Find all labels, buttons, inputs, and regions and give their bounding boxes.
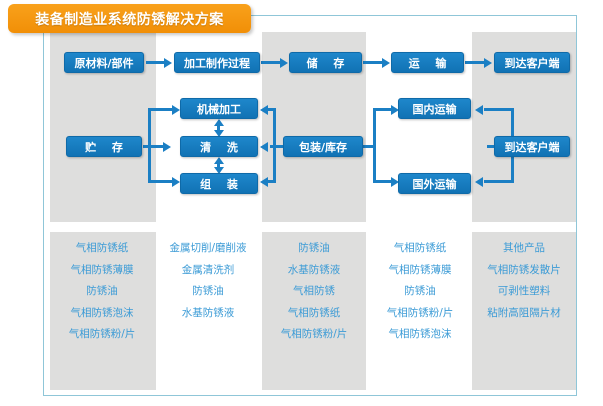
diagram-root: 原材料/部件 加工制作过程 储 存 运 输 到达客户端 贮 存 机械加工 清 洗… xyxy=(0,0,603,406)
arrowhead-customer-to-domestic xyxy=(475,105,483,115)
connector-depot-out xyxy=(143,145,165,148)
connector-packaging-to-domestic xyxy=(373,108,393,111)
product-column-4: 气相防锈纸 气相防锈薄膜 防锈油 气相防锈粉/片 气相防锈泡沫 xyxy=(368,238,472,346)
product-item: 气相防锈纸 xyxy=(288,303,341,325)
product-item: 防锈油 xyxy=(404,281,436,303)
connector-packaging-left-spine xyxy=(273,108,276,183)
connector-raw-to-process xyxy=(146,61,166,64)
flow-box-processing[interactable]: 加工制作过程 xyxy=(174,52,260,73)
connector-packaging-right-spine xyxy=(373,108,376,183)
flow-box-raw-material[interactable]: 原材料/部件 xyxy=(64,52,144,73)
arrowhead-packaging-to-machining xyxy=(260,105,268,115)
connector-depot-to-machining xyxy=(148,108,174,111)
product-item: 粘附高阻隔片材 xyxy=(487,303,561,325)
connector-customer-to-domestic xyxy=(484,108,514,111)
flow-box-overseas-transport[interactable]: 国外运输 xyxy=(398,173,471,194)
flow-box-domestic-transport[interactable]: 国内运输 xyxy=(398,98,471,119)
product-item: 气相防锈 xyxy=(293,281,335,303)
flow-box-assembly[interactable]: 组 装 xyxy=(180,173,258,194)
product-item: 其他产品 xyxy=(503,238,545,260)
flow-box-storage[interactable]: 储 存 xyxy=(289,52,362,73)
product-item: 防锈油 xyxy=(298,238,330,260)
product-item: 气相防锈薄膜 xyxy=(71,260,134,282)
arrowhead-process-to-storage xyxy=(280,58,288,68)
connector-depot-to-assembly xyxy=(148,180,174,183)
product-column-3: 防锈油 水基防锈液 气相防锈 气相防锈纸 气相防锈粉/片 xyxy=(262,238,366,346)
product-column-5: 其他产品 气相防锈发散片 可剥性塑料 粘附高阻隔片材 xyxy=(472,238,576,324)
product-item: 可剥性塑料 xyxy=(498,281,551,303)
arrowhead-assembly-to-cleaning xyxy=(214,157,224,164)
flow-box-machining[interactable]: 机械加工 xyxy=(180,98,258,119)
product-item: 金属清洗剂 xyxy=(182,260,235,282)
arrowhead-customer-to-overseas xyxy=(475,177,483,187)
connector-packaging-to-machining xyxy=(268,108,276,111)
product-item: 气相防锈泡沫 xyxy=(71,303,134,325)
arrowhead-cleaning-to-machining xyxy=(214,119,224,126)
flow-box-packaging-inventory[interactable]: 包装/库存 xyxy=(283,136,363,157)
product-item: 水基防锈液 xyxy=(182,303,235,325)
arrowhead-transport-to-customer xyxy=(484,58,492,68)
flow-box-transport[interactable]: 运 输 xyxy=(391,52,464,73)
title-tab: 装备制造业系统防锈解决方案 xyxy=(8,4,251,33)
flow-box-depot[interactable]: 贮 存 xyxy=(66,136,142,157)
product-item: 金属切削/磨削液 xyxy=(169,238,246,260)
connector-transport-to-customer xyxy=(465,61,486,64)
product-item: 气相防锈粉/片 xyxy=(69,324,136,346)
product-item: 气相防锈粉/片 xyxy=(281,324,348,346)
arrowhead-packaging-to-assembly xyxy=(260,177,268,187)
arrowhead-packaging-to-cleaning xyxy=(260,142,268,152)
product-item: 气相防锈泡沫 xyxy=(389,324,452,346)
connector-process-to-storage xyxy=(261,61,282,64)
page-title: 装备制造业系统防锈解决方案 xyxy=(35,9,224,29)
flow-box-arrive-customer-top[interactable]: 到达客户端 xyxy=(494,52,570,73)
flow-box-cleaning[interactable]: 清 洗 xyxy=(180,136,258,157)
product-column-1: 气相防锈纸 气相防锈薄膜 防锈油 气相防锈泡沫 气相防锈粉/片 xyxy=(50,238,154,346)
arrowhead-depot-to-cleaning xyxy=(163,142,171,152)
product-item: 防锈油 xyxy=(192,281,224,303)
arrowhead-raw-to-process xyxy=(164,58,172,68)
product-item: 气相防锈发散片 xyxy=(487,260,561,282)
product-item: 气相防锈纸 xyxy=(76,238,129,260)
product-item: 防锈油 xyxy=(86,281,118,303)
product-item: 气相防锈粉/片 xyxy=(387,303,454,325)
connector-storage-to-transport xyxy=(363,61,384,64)
connector-packaging-to-overseas xyxy=(373,180,393,183)
product-item: 气相防锈薄膜 xyxy=(389,260,452,282)
connector-depot-spine xyxy=(148,108,151,183)
product-item: 水基防锈液 xyxy=(288,260,341,282)
arrowhead-depot-to-machining xyxy=(172,105,180,115)
product-column-2: 金属切削/磨削液 金属清洗剂 防锈油 水基防锈液 xyxy=(156,238,260,324)
flow-box-arrive-customer-lower[interactable]: 到达客户端 xyxy=(494,136,570,157)
arrowhead-storage-to-transport xyxy=(382,58,390,68)
connector-packaging-to-assembly xyxy=(268,180,276,183)
connector-customer-to-overseas xyxy=(484,180,514,183)
arrowhead-depot-to-assembly xyxy=(172,177,180,187)
product-item: 气相防锈纸 xyxy=(394,238,447,260)
